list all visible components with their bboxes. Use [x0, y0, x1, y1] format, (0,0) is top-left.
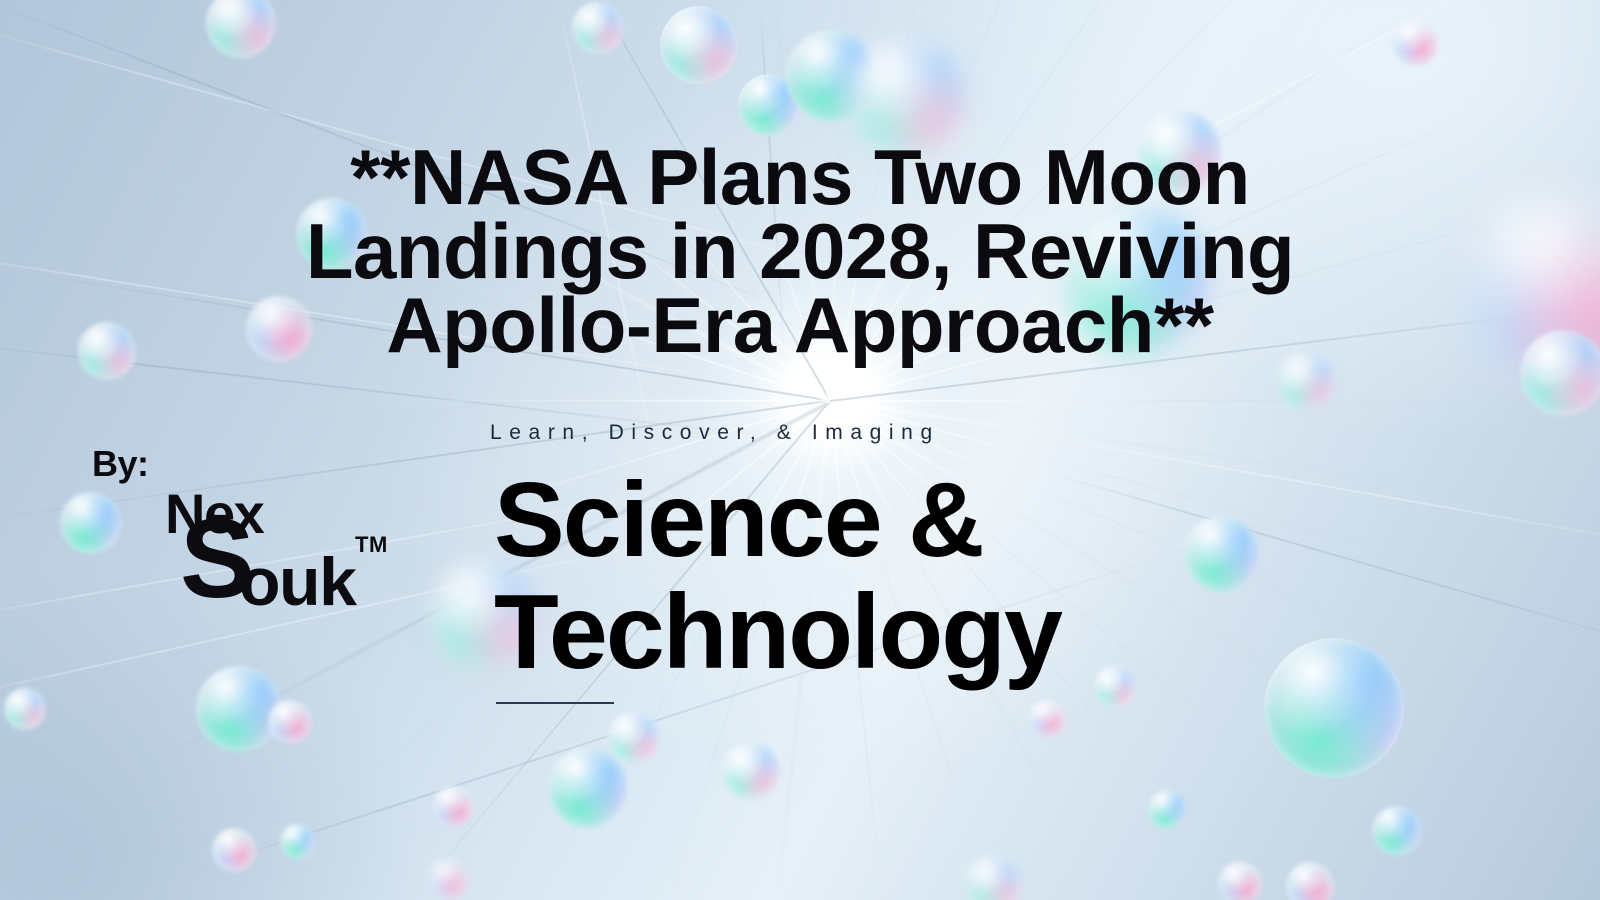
publisher-logo[interactable]: By: Nex S ouk TM: [92, 443, 422, 643]
logo-word-ouk: ouk: [239, 543, 355, 621]
byline-label: By:: [92, 443, 149, 485]
brand-tagline: Learn, Discover, & Imaging: [490, 421, 940, 445]
section-title-underline: [496, 702, 614, 704]
trademark-symbol: TM: [355, 532, 388, 558]
section-title: Science & Technology: [494, 464, 1254, 688]
slide-canvas: **NASA Plans Two Moon Landings in 2028, …: [0, 0, 1600, 900]
article-headline: **NASA Plans Two Moon Landings in 2028, …: [0, 140, 1600, 362]
